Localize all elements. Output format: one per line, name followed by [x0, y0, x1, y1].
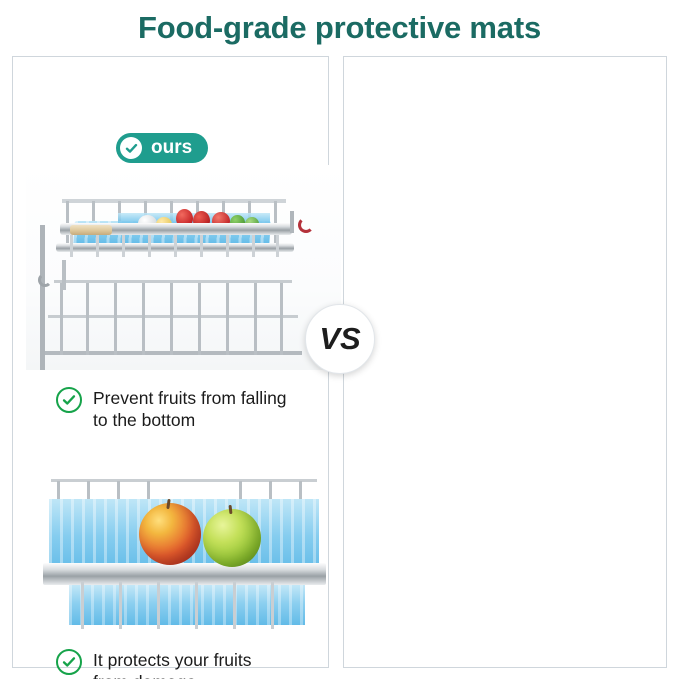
caption-prevent-fruits-falling: Prevent fruits from falling to the botto… — [56, 387, 321, 431]
caption-line-2: to the bottom — [93, 410, 195, 430]
apples-on-protective-mat-photo — [43, 473, 326, 633]
caption-line-2: from damage — [93, 672, 196, 679]
vs-badge: VS — [305, 304, 375, 374]
check-icon — [120, 137, 142, 159]
chrome-rack-with-fruit-photo — [26, 165, 341, 370]
check-circle-icon — [56, 387, 82, 413]
comparison-infographic: Food-grade protective mats — [0, 0, 679, 679]
caption-text: Prevent fruits from falling to the botto… — [93, 387, 287, 431]
page-title: Food-grade protective mats — [0, 6, 679, 50]
caption-line-1: It protects your fruits — [93, 650, 252, 670]
caption-protects-fruits: It protects your fruits from damage — [56, 649, 321, 679]
badge-ours: ours — [116, 133, 208, 163]
right-panel-other: OTHER The large gaps may cause smaller f… — [343, 56, 667, 668]
check-circle-icon — [56, 649, 82, 675]
caption-text: It protects your fruits from damage — [93, 649, 252, 679]
badge-ours-label: ours — [151, 133, 192, 163]
left-panel-ours: ours Prevent fruits from falling to the … — [12, 56, 329, 668]
caption-line-1: Prevent fruits from falling — [93, 388, 287, 408]
